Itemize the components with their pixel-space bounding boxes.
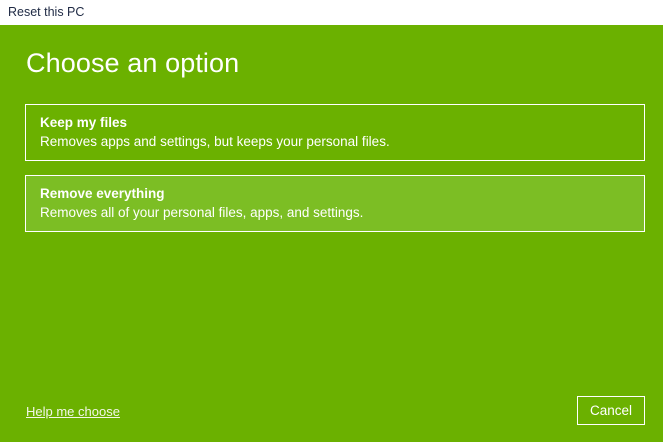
option-title: Remove everything xyxy=(40,185,165,202)
option-description: Removes all of your personal files, apps… xyxy=(40,204,363,222)
option-remove-everything[interactable]: Remove everything Removes all of your pe… xyxy=(25,175,645,232)
title-bar: Reset this PC xyxy=(0,0,663,25)
option-keep-my-files[interactable]: Keep my files Removes apps and settings,… xyxy=(25,104,645,161)
help-me-choose-link[interactable]: Help me choose xyxy=(26,403,120,420)
window-title: Reset this PC xyxy=(8,4,84,20)
page-body: Choose an option Keep my files Removes a… xyxy=(0,25,663,442)
option-title: Keep my files xyxy=(40,114,127,131)
reset-this-pc-window: Reset this PC Choose an option Keep my f… xyxy=(0,0,663,442)
page-title: Choose an option xyxy=(26,47,239,79)
cancel-button[interactable]: Cancel xyxy=(577,396,645,425)
option-description: Removes apps and settings, but keeps you… xyxy=(40,133,390,151)
